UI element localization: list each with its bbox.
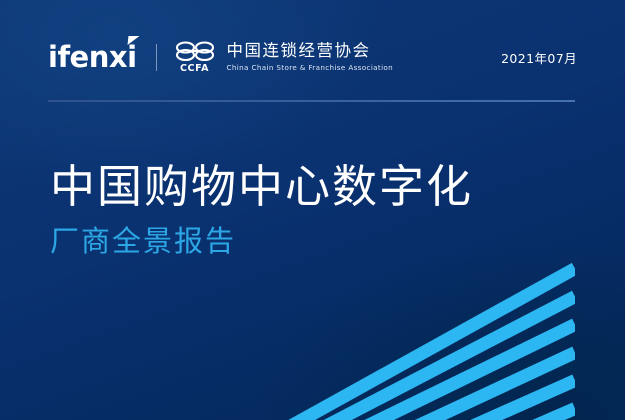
title-block: 中国购物中心数字化 厂商全景报告 (50, 160, 473, 259)
brand-logo-label: ifenxi (48, 40, 137, 74)
ccfa-abbr-label: CCFA (180, 64, 209, 74)
brand-logo-ifenxi: ifenxi (48, 43, 137, 72)
flag-accent-icon (127, 36, 139, 45)
ccfa-mark: CCFA (174, 40, 216, 74)
ccfa-name-en: China Chain Store & Franchise Associatio… (227, 64, 394, 73)
partner-logo-ccfa: CCFA 中国连锁经营协会 China Chain Store & Franch… (174, 40, 394, 74)
ccfa-knot-icon (174, 40, 216, 62)
vertical-divider-icon (156, 44, 157, 71)
report-cover: ifenxi CCFA (0, 0, 625, 420)
header-divider (48, 100, 575, 102)
cover-header: ifenxi CCFA (48, 34, 577, 80)
report-title: 中国购物中心数字化 (50, 160, 473, 214)
report-subtitle: 厂商全景报告 (50, 224, 473, 259)
issue-date: 2021年07月 (501, 48, 577, 67)
ccfa-text-block: 中国连锁经营协会 China Chain Store & Franchise A… (227, 42, 394, 73)
ccfa-name-cn: 中国连锁经营协会 (227, 42, 394, 61)
